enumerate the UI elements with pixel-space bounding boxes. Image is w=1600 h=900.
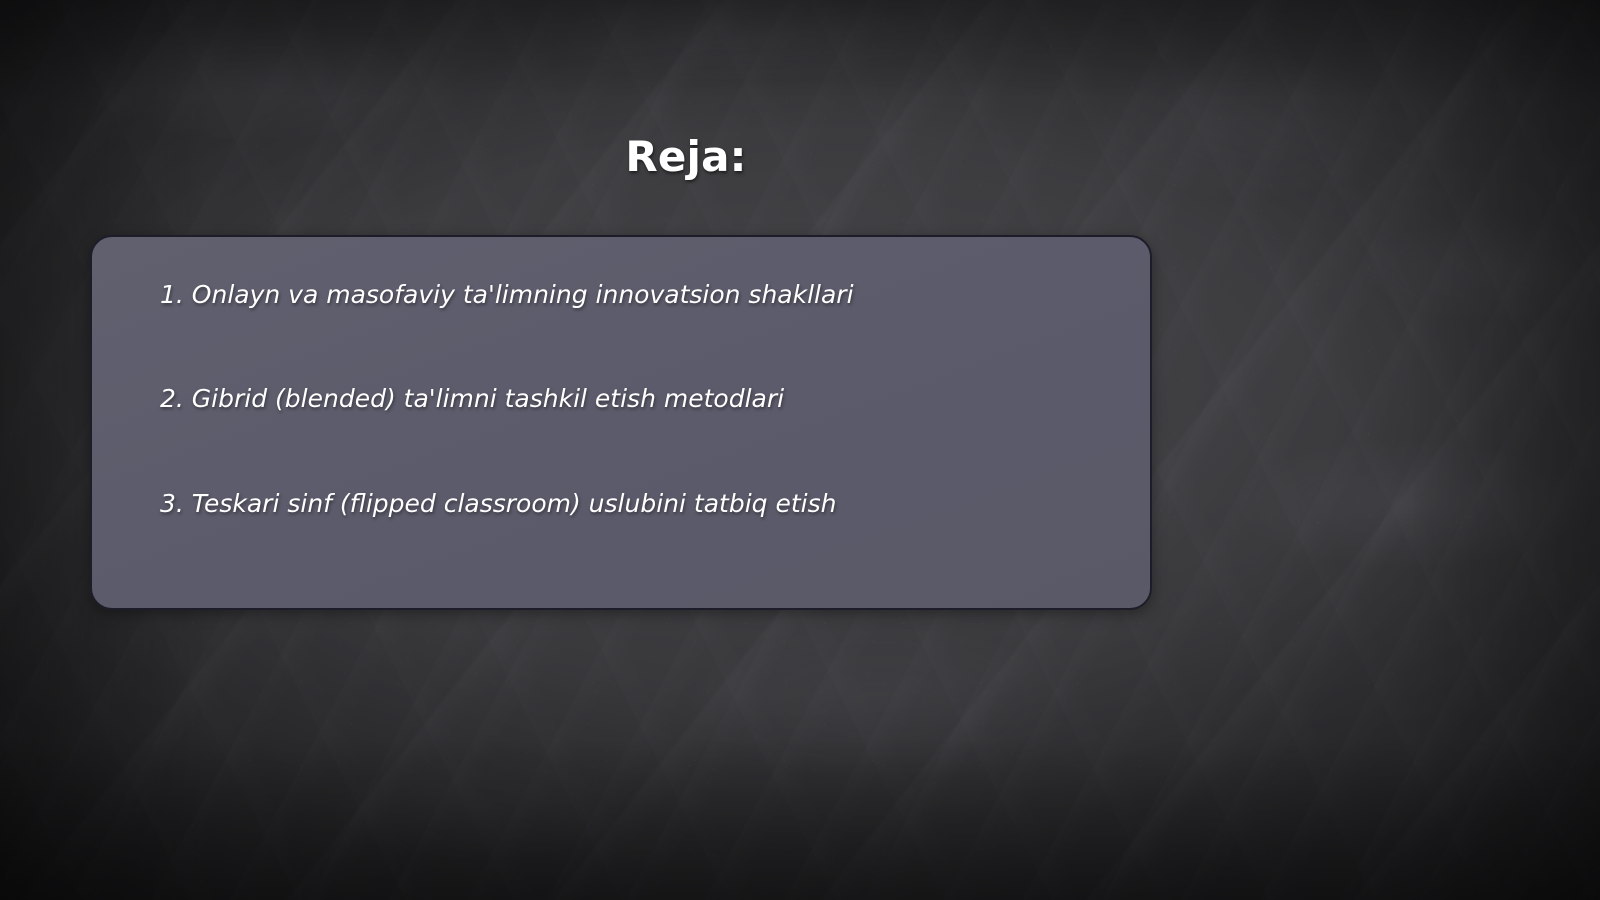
presentation-slide: Reja: 1. Onlayn va masofaviy ta'limning … bbox=[0, 0, 1600, 900]
plan-card: 1. Onlayn va masofaviy ta'limning innova… bbox=[90, 235, 1152, 610]
page-title: Reja: bbox=[0, 132, 1372, 181]
plan-list: 1. Onlayn va masofaviy ta'limning innova… bbox=[160, 279, 1150, 519]
list-item: 1. Onlayn va masofaviy ta'limning innova… bbox=[160, 279, 1150, 310]
list-item: 3. Teskari sinf (flipped classroom) uslu… bbox=[160, 488, 1150, 519]
list-item: 2. Gibrid (blended) ta'limni tashkil eti… bbox=[160, 383, 1150, 414]
